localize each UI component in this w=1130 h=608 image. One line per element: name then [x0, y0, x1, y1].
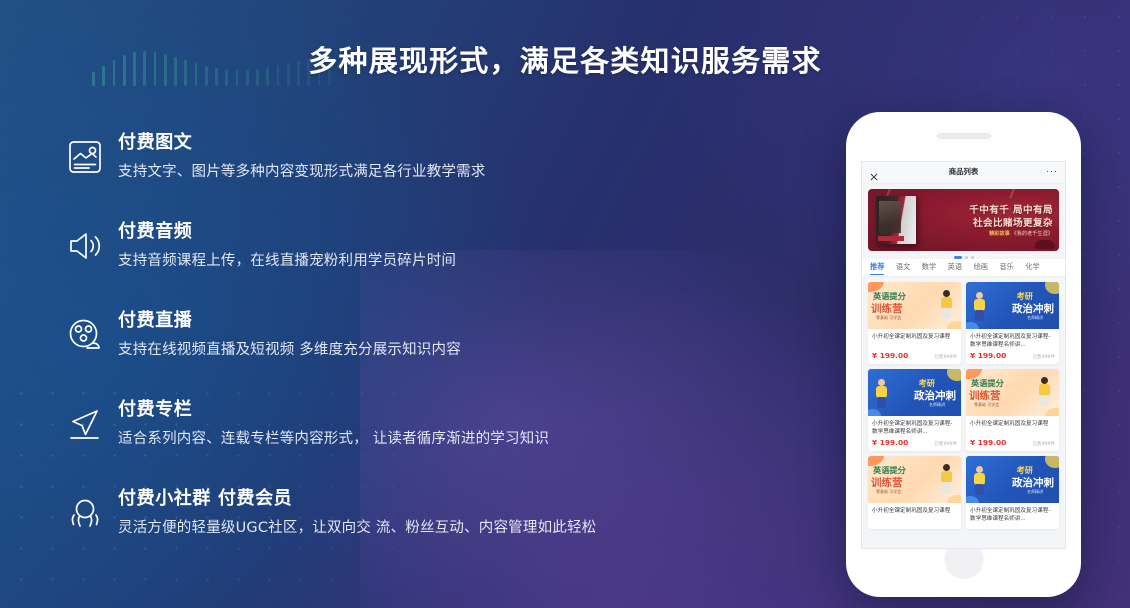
- thumb-figure-illustration: [939, 464, 955, 494]
- thumb-line-3: 名师精讲: [1027, 315, 1043, 321]
- thumb-blob: [947, 321, 961, 329]
- thumb-blob: [1045, 282, 1059, 294]
- category-tab-5[interactable]: 音乐: [999, 262, 1013, 272]
- promo-banner-section: 多种展现形式，满足各类知识服务需求 付费图文 支持文字、图片等多种内容变现形式满…: [0, 0, 1130, 608]
- product-title: 小升初全课定制巩固及复习课程: [868, 503, 961, 525]
- product-card[interactable]: 考研政治冲刺名师精讲小升初全课定制巩固及复习课程-数学思维课程名师讲...¥ 1…: [966, 282, 1059, 364]
- thumb-figure-illustration: [939, 290, 955, 320]
- banner-decor-shape: [1035, 240, 1055, 249]
- product-thumbnail: 考研政治冲刺名师精讲: [966, 456, 1059, 503]
- promo-carousel-banner[interactable]: 千中有千 局中有局 社会比赌场更复杂 精彩故事 《我的老千生涯》: [868, 189, 1059, 251]
- category-tab-1[interactable]: 语文: [896, 262, 910, 272]
- feature-title: 付费专栏: [118, 395, 192, 421]
- product-title: 小升初全课定制巩固及复习课程: [868, 329, 961, 351]
- product-title: 小升初全课定制巩固及复习课程: [966, 416, 1059, 438]
- banner-subtitle: 精彩故事 《我的老千生涯》: [989, 230, 1053, 237]
- carousel-dot[interactable]: [965, 256, 968, 259]
- thumb-line-3: 名师精讲: [1027, 489, 1043, 495]
- feature-item-image-text[interactable]: 付费图文 支持文字、图片等多种内容变现形式满足各行业教学需求: [62, 128, 582, 217]
- banner-book-image: [876, 196, 916, 244]
- thumb-figure-illustration: [1037, 377, 1053, 407]
- banner-book-title: 《我的老千生涯》: [1011, 231, 1053, 237]
- product-title: 小升初全课定制巩固及复习课程-数学思维课程名师讲...: [966, 329, 1059, 351]
- thumb-line-3: 名师精讲: [929, 402, 945, 408]
- feature-title: 付费图文: [118, 128, 192, 154]
- feature-list: 付费图文 支持文字、图片等多种内容变现形式满足各行业教学需求 付费音频 支持音频…: [62, 128, 582, 573]
- category-tabs[interactable]: 推荐语文数学英语绘画音乐化学: [862, 259, 1065, 277]
- thumb-figure-illustration: [874, 379, 890, 409]
- product-thumbnail: 英语提分训练营零基础 可学会: [868, 282, 961, 329]
- product-meta-row: [966, 525, 1059, 529]
- category-tab-2[interactable]: 数学: [922, 262, 936, 272]
- feature-item-audio[interactable]: 付费音频 支持音频课程上传，在线直播宠粉利用学员碎片时间: [62, 217, 582, 306]
- feature-title: 付费直播: [118, 306, 192, 332]
- feature-title: 付费音频: [118, 217, 192, 243]
- product-price: ¥ 199.00: [970, 351, 1006, 360]
- banner-line-1: 千中有千 局中有局: [969, 202, 1053, 216]
- more-dots-icon[interactable]: ···: [1046, 167, 1058, 176]
- product-meta-row: [868, 525, 961, 529]
- app-navbar: 商品列表 ···: [862, 162, 1065, 184]
- feature-item-column[interactable]: 付费专栏 适合系列内容、连载专栏等内容形式， 让读者循序渐进的学习知识: [62, 395, 582, 484]
- feature-description: 适合系列内容、连载专栏等内容形式， 让读者循序渐进的学习知识: [118, 427, 549, 448]
- carousel-dot[interactable]: [971, 256, 974, 259]
- banner-line-2: 社会比赌场更复杂: [973, 215, 1053, 229]
- product-card[interactable]: 英语提分训练营零基础 可学会小升初全课定制巩固及复习课程¥ 199.00已售99…: [868, 282, 961, 364]
- thumb-line-3: 零基础 可学会: [876, 489, 901, 495]
- thumb-line-2: 训练营: [871, 301, 903, 316]
- thumb-blob: [966, 322, 979, 329]
- thumb-blob: [868, 409, 881, 416]
- film-reel-icon: [62, 312, 108, 358]
- app-title: 商品列表: [862, 166, 1065, 177]
- product-thumbnail: 英语提分训练营零基础 可学会: [966, 369, 1059, 416]
- page-title: 多种展现形式，满足各类知识服务需求: [0, 38, 1130, 80]
- product-meta-row: ¥ 199.00已售999件: [868, 438, 961, 451]
- product-card[interactable]: 考研政治冲刺名师精讲小升初全课定制巩固及复习课程-数学思维课程名师讲...: [966, 456, 1059, 529]
- feature-description: 支持音频课程上传，在线直播宠粉利用学员碎片时间: [118, 249, 456, 270]
- product-sold-count: 已售999件: [1032, 441, 1055, 447]
- thumb-blob: [966, 496, 979, 503]
- banner-streak: [1009, 189, 1016, 199]
- thumb-line-3: 零基础 可学会: [876, 315, 901, 321]
- category-tab-0[interactable]: 推荐: [870, 262, 884, 272]
- product-title: 小升初全课定制巩固及复习课程-数学思维课程名师讲...: [966, 503, 1059, 525]
- phone-speaker: [937, 133, 991, 139]
- image-icon: [62, 134, 108, 180]
- carousel-dot[interactable]: [954, 256, 962, 259]
- paper-plane-icon: [62, 401, 108, 447]
- feature-description: 支持文字、图片等多种内容变现形式满足各行业教学需求: [118, 160, 486, 181]
- product-thumbnail: 考研政治冲刺名师精讲: [868, 369, 961, 416]
- thumb-blob: [947, 369, 961, 381]
- thumb-blob: [1045, 408, 1059, 416]
- speaker-icon: [62, 223, 108, 269]
- thumb-figure-illustration: [972, 466, 988, 496]
- product-title: 小升初全课定制巩固及复习课程-数学思维课程名师讲...: [868, 416, 961, 438]
- feature-title: 付费小社群 付费会员: [118, 484, 292, 510]
- product-price: ¥ 199.00: [872, 438, 908, 447]
- product-price: ¥ 199.00: [970, 438, 1006, 447]
- thumb-line-3: 零基础 可学会: [974, 402, 999, 408]
- category-tab-6[interactable]: 化学: [1025, 262, 1039, 272]
- category-tab-4[interactable]: 绘画: [974, 262, 988, 272]
- category-tab-3[interactable]: 英语: [948, 262, 962, 272]
- thumb-blob: [947, 495, 961, 503]
- product-price: ¥ 199.00: [872, 351, 908, 360]
- product-sold-count: 已售999件: [934, 441, 957, 447]
- product-sold-count: 已售999件: [934, 354, 957, 360]
- thumb-line-2: 政治冲刺: [1012, 475, 1054, 490]
- banner-tag: 精彩故事: [989, 231, 1010, 237]
- thumb-line-2: 政治冲刺: [914, 388, 956, 403]
- product-meta-row: ¥ 199.00已售999件: [966, 438, 1059, 451]
- product-grid: 英语提分训练营零基础 可学会小升初全课定制巩固及复习课程¥ 199.00已售99…: [862, 277, 1065, 534]
- product-thumbnail: 考研政治冲刺名师精讲: [966, 282, 1059, 329]
- product-sold-count: 已售999件: [1032, 354, 1055, 360]
- product-meta-row: ¥ 199.00已售999件: [868, 351, 961, 364]
- community-icon: [62, 490, 108, 536]
- product-card[interactable]: 考研政治冲刺名师精讲小升初全课定制巩固及复习课程-数学思维课程名师讲...¥ 1…: [868, 369, 961, 451]
- product-thumbnail: 英语提分训练营零基础 可学会: [868, 456, 961, 503]
- product-meta-row: ¥ 199.00已售999件: [966, 351, 1059, 364]
- thumb-line-2: 政治冲刺: [1012, 301, 1054, 316]
- thumb-figure-illustration: [972, 292, 988, 322]
- feature-description: 灵活方便的轻量级UGC社区，让双向交 流、粉丝互动、内容管理如此轻松: [118, 516, 596, 537]
- thumb-line-2: 训练营: [871, 475, 903, 490]
- thumb-line-2: 训练营: [969, 388, 1001, 403]
- feature-description: 支持在线视频直播及短视频 多维度充分展示知识内容: [118, 338, 461, 359]
- thumb-blob: [1045, 456, 1059, 468]
- feature-item-live[interactable]: 付费直播 支持在线视频直播及短视频 多维度充分展示知识内容: [62, 306, 582, 395]
- phone-screen: 商品列表 ··· 千中有千 局中有局 社会比赌场更复杂 精彩故事 《我的老千生涯…: [861, 161, 1066, 549]
- product-card[interactable]: 英语提分训练营零基础 可学会小升初全课定制巩固及复习课程¥ 199.00已售99…: [966, 369, 1059, 451]
- product-card[interactable]: 英语提分训练营零基础 可学会小升初全课定制巩固及复习课程: [868, 456, 961, 529]
- phone-mockup: 商品列表 ··· 千中有千 局中有局 社会比赌场更复杂 精彩故事 《我的老千生涯…: [846, 112, 1081, 597]
- feature-item-community[interactable]: 付费小社群 付费会员 灵活方便的轻量级UGC社区，让双向交 流、粉丝互动、内容管…: [62, 484, 582, 573]
